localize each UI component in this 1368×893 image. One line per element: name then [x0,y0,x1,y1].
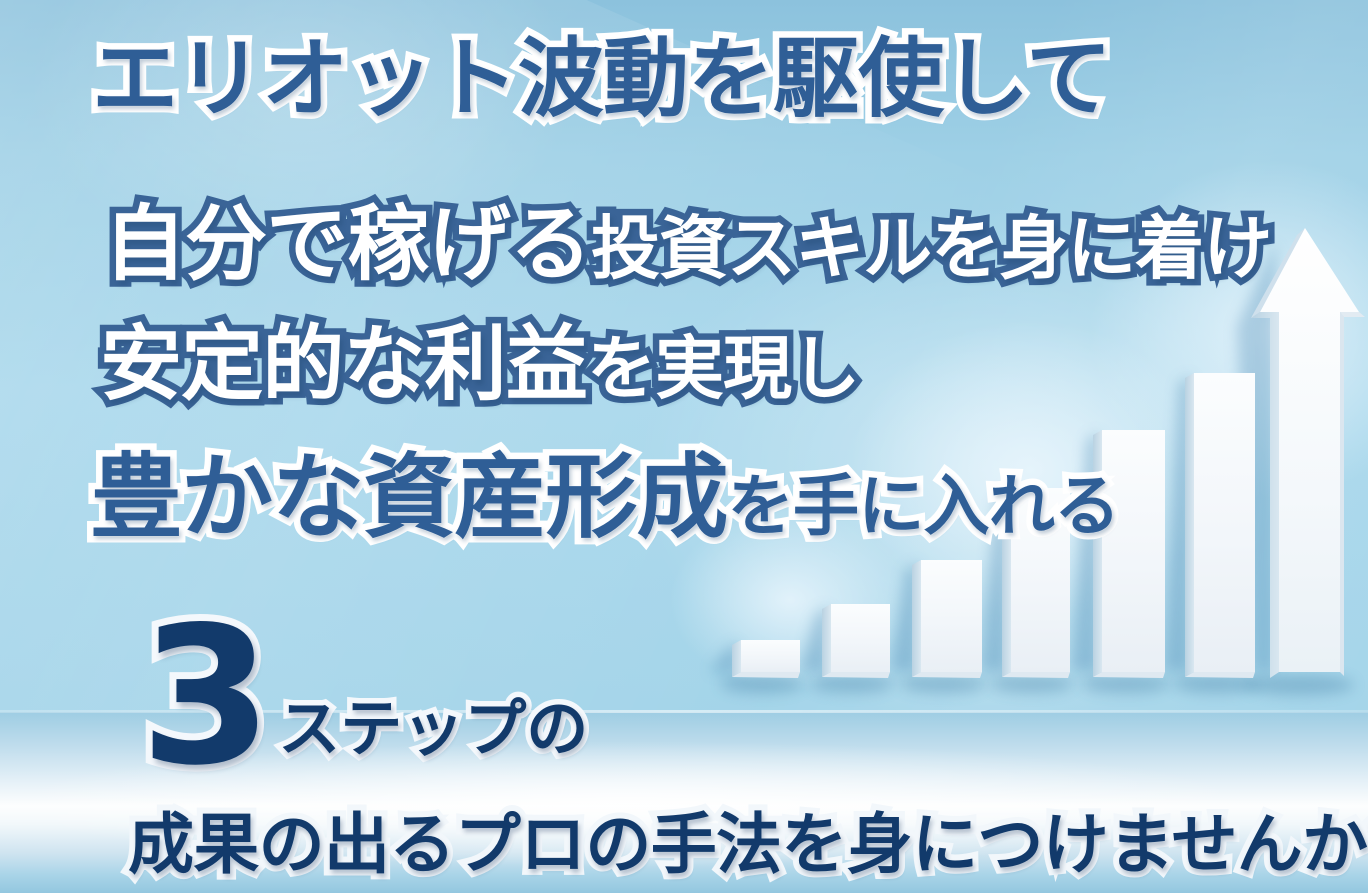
headline-line-1: エリオット波動を駆使して [92,36,1111,122]
headline-line-3-main: 安定的な利益 [100,317,587,412]
headline-line-3-sub: を実現し [587,329,859,409]
headline-line-4-sub: を手に入れる [728,468,1120,545]
headline-line-3: 安定的な利益を実現し [100,324,859,406]
headline-line-4-main: 豊かな資産形成 [90,444,728,551]
promotional-banner: エリオット波動を駆使して 自分で稼げる投資スキルを身に着け 安定的な利益を実現し… [0,0,1368,893]
headline-line-2: 自分で稼げる投資スキルを身に着け [104,204,1272,286]
steps-number: 3 [140,615,272,778]
closing-question-line: 成果の出るプロの手法を身につけませんか？ [128,812,1368,878]
headline-line-2-main: 自分で稼げる [104,197,591,292]
steps-number-suffix: ステップの [278,698,588,760]
headline-line-4: 豊かな資産形成を手に入れる [90,452,1119,544]
steps-callout: 3 ステップの [140,615,588,778]
headline-line-2-sub: 投資スキルを身に着け [591,209,1271,289]
